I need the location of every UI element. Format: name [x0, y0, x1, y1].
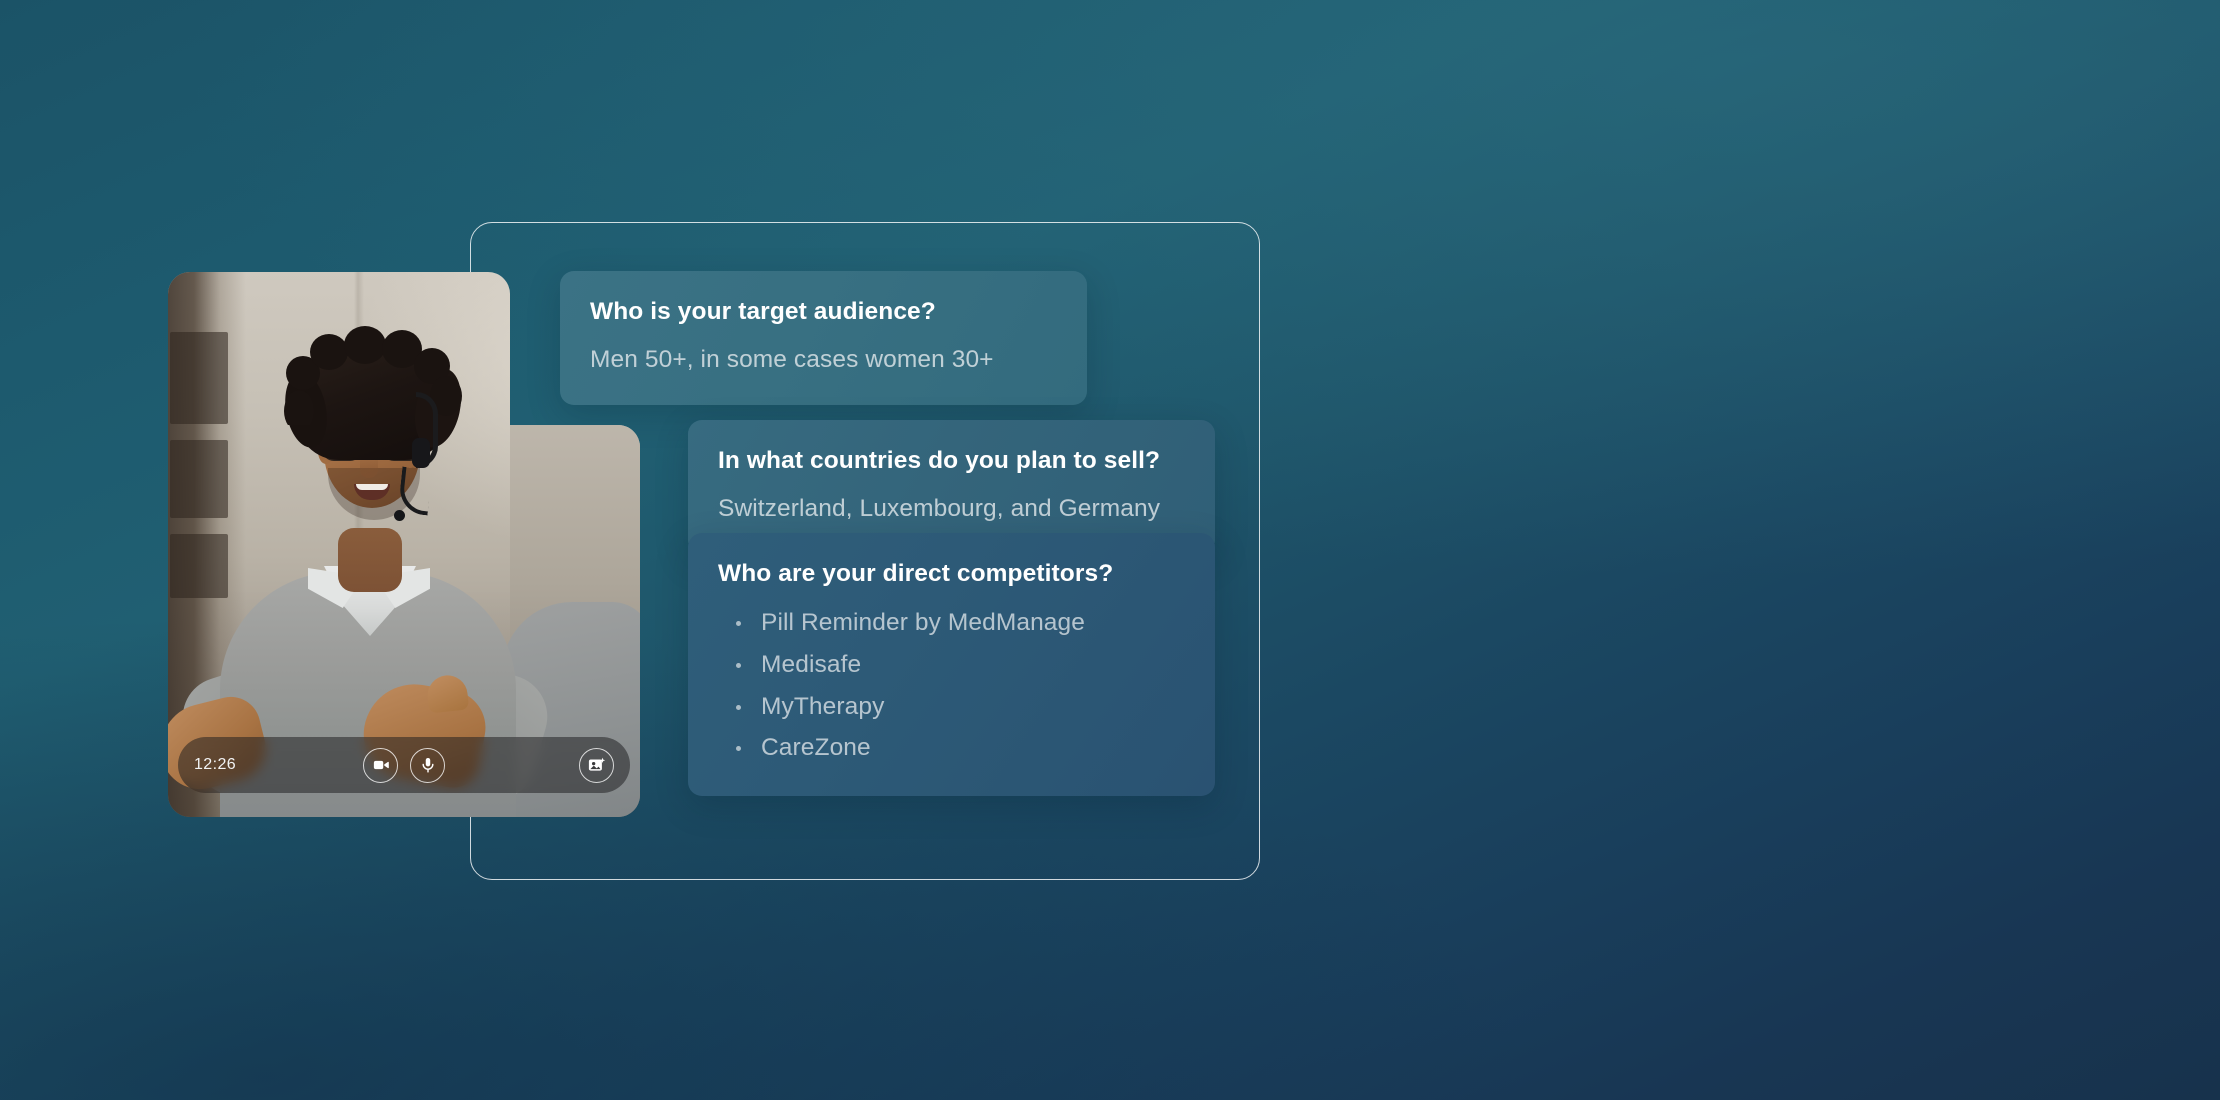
list-item-label: Pill Reminder by MedManage — [761, 609, 1085, 636]
camera-icon — [372, 756, 390, 774]
qa-answer: Switzerland, Luxembourg, and Germany — [718, 493, 1185, 525]
microphone-button[interactable] — [410, 748, 445, 783]
list-item: Medisafe — [734, 652, 1185, 679]
list-item-label: CareZone — [761, 734, 871, 761]
list-item-label: Medisafe — [761, 651, 861, 678]
competitor-list: Pill Reminder by MedManage Medisafe MyTh… — [718, 610, 1185, 763]
hair-curl — [310, 334, 348, 370]
headset-earcup — [412, 438, 430, 468]
list-item: MyTherapy — [734, 694, 1185, 721]
background-effects-button[interactable] — [579, 748, 614, 783]
qa-question: Who is your target audience? — [590, 297, 1057, 328]
headset-microphone — [394, 510, 405, 521]
bullet-dot-icon — [736, 663, 741, 668]
microphone-icon — [419, 756, 437, 774]
video-frame-bottom-segment: 12:26 — [168, 425, 640, 817]
qa-card-competitors[interactable]: Who are your direct competitors? Pill Re… — [688, 533, 1215, 796]
neck — [338, 528, 402, 592]
bullet-dot-icon — [736, 705, 741, 710]
hair-curl — [344, 326, 386, 364]
call-timer: 12:26 — [194, 756, 258, 774]
camera-button[interactable] — [363, 748, 398, 783]
bullet-dot-icon — [736, 621, 741, 626]
video-call-panel[interactable]: 12:26 — [168, 272, 640, 817]
qa-question: In what countries do you plan to sell? — [718, 446, 1185, 477]
video-control-bar: 12:26 — [178, 737, 630, 793]
list-item-label: MyTherapy — [761, 693, 884, 720]
list-item: CareZone — [734, 735, 1185, 762]
qa-answer: Men 50+, in some cases women 30+ — [590, 344, 1057, 376]
list-item: Pill Reminder by MedManage — [734, 610, 1185, 637]
qa-question: Who are your direct competitors? — [718, 559, 1185, 590]
bullet-dot-icon — [736, 746, 741, 751]
image-sparkle-icon — [587, 756, 606, 775]
center-controls — [363, 748, 445, 783]
